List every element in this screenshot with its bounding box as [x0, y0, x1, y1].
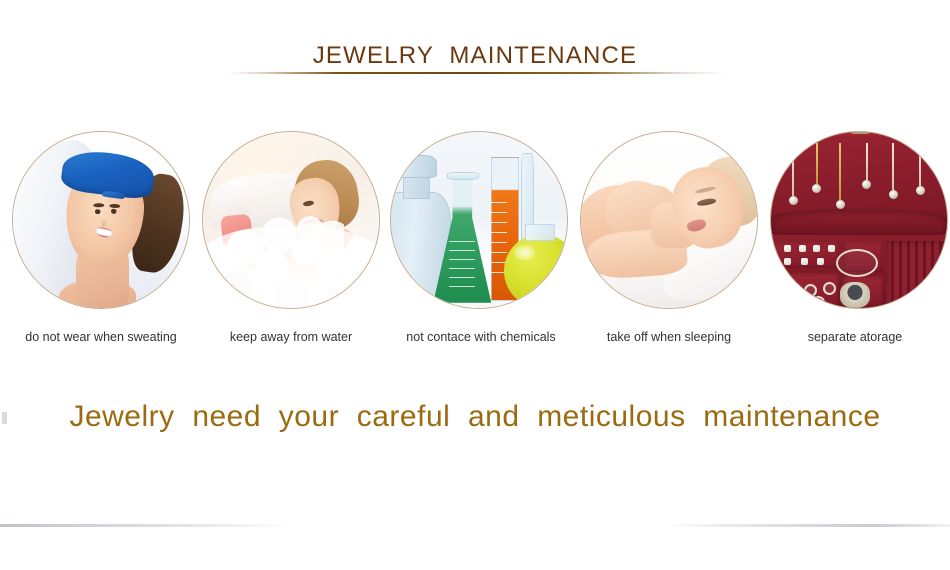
woman-sleeping-on-pillow-photo: [581, 132, 757, 308]
necklace-pendant: [916, 186, 925, 195]
tip-caption-5: separate atorage: [762, 330, 948, 344]
tip-item-4: [580, 131, 758, 309]
scan-artifact-left: [2, 412, 7, 424]
ring-item: [823, 282, 836, 295]
eye-left-shape: [94, 209, 101, 215]
ring-slots: [886, 241, 946, 307]
necklace-chain: [866, 143, 868, 180]
eyebrow-left-shape: [93, 204, 104, 208]
velvet-pouch-shape: [772, 209, 947, 235]
necklace-pendant: [862, 180, 871, 189]
necklace-pendant: [889, 190, 898, 199]
eyebrow-right-shape: [109, 203, 120, 207]
jewelry-box-shape: [770, 131, 948, 309]
earring-stud: [784, 258, 791, 265]
necklace-pendant: [812, 184, 821, 193]
earring-stud: [784, 245, 791, 252]
ring-item: [790, 295, 803, 308]
tagline: Jewelry need your careful and meticulous…: [0, 400, 950, 434]
tip-caption-2: keep away from water: [200, 330, 382, 344]
tip-caption-4: take off when sleeping: [578, 330, 760, 344]
earring-stud: [801, 258, 808, 265]
tip-item-3: [390, 131, 568, 309]
tip-caption-3: not contace with chemicals: [378, 330, 584, 344]
bracelet-item: [836, 249, 878, 277]
earring-stud: [813, 245, 820, 252]
page-title: JEWELRY MAINTENANCE: [0, 42, 950, 70]
ring-item: [812, 296, 825, 309]
woman-wiping-sweat-with-towel-photo: [13, 132, 189, 308]
ring-item: [804, 284, 817, 297]
necklace-chain: [919, 143, 921, 185]
tip-item-2: [202, 131, 380, 309]
necklace-group: [775, 143, 942, 216]
maintenance-tips-row: [0, 131, 950, 313]
tip-image-circle-4: [580, 131, 758, 309]
round-flask-neck-shape: [525, 224, 555, 242]
earring-stud: [817, 258, 824, 265]
earring-stud: [828, 245, 835, 252]
nose-shape: [101, 218, 107, 227]
earring-stud: [799, 245, 806, 252]
necklace-chain: [792, 143, 794, 196]
woman-in-bubble-bath-photo: [203, 132, 379, 308]
smile-shape: [95, 226, 114, 238]
tip-image-circle-2: [202, 131, 380, 309]
tip-image-circle-3: [390, 131, 568, 309]
necklace-pendant: [836, 200, 845, 209]
eye-right-shape: [110, 209, 117, 215]
title-divider: [228, 72, 725, 74]
bubble-foam-highlight: [263, 216, 344, 255]
tip-caption-1: do not wear when sweating: [0, 330, 202, 344]
box-clasp-shape: [851, 131, 870, 134]
laboratory-glassware-photo: [391, 132, 567, 308]
scan-seam-line: [0, 524, 950, 527]
necklace-chain: [839, 143, 841, 200]
red-velvet-jewelry-box-photo: [771, 132, 947, 308]
tip-item-5: [770, 131, 948, 309]
tip-item-1: [12, 131, 190, 309]
necklace-chain: [816, 143, 818, 184]
glass-stopper-shape: [396, 155, 436, 178]
jewelry-maintenance-infographic: JEWELRY MAINTENANCE: [0, 0, 950, 570]
flask-rim-shape: [447, 172, 479, 179]
watch-item: [840, 282, 870, 308]
flask-graduation-marks: [449, 241, 475, 287]
necklace-chain: [892, 143, 894, 190]
tip-image-circle-5: [770, 131, 948, 309]
tip-image-circle-1: [12, 131, 190, 309]
necklace-pendant: [789, 196, 798, 205]
